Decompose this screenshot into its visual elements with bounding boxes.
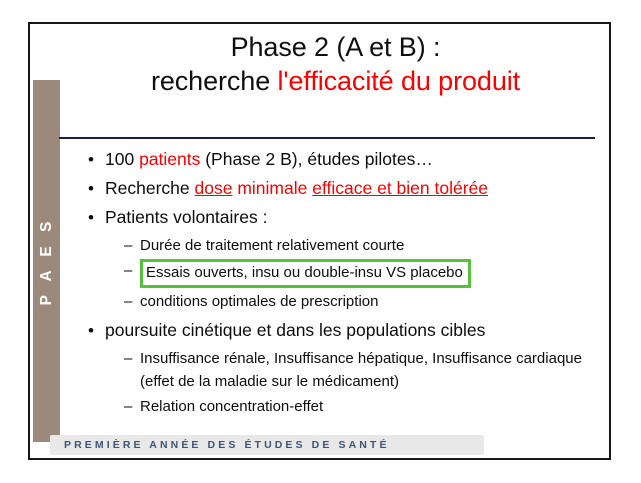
bullet-marker: • — [88, 317, 105, 344]
bullet-segment-red: patients — [139, 149, 200, 169]
slide: P A E S Phase 2 (A et B) : recherche l'e… — [28, 22, 611, 460]
dash-marker: – — [124, 234, 140, 257]
sub-bullet-text: Insuffisance rénale, Insuffisance hépati… — [140, 347, 610, 393]
footer-text: PREMIÈRE ANNÉE DES ÉTUDES DE SANTÉ — [64, 439, 390, 451]
bullet-segment-red: minimale — [237, 178, 307, 198]
bullet-marker: • — [88, 146, 105, 173]
bullet-marker: • — [88, 204, 105, 231]
bullet-segment-red-underline: dose — [195, 178, 233, 198]
sub-bullet-text: Durée de traitement relativement courte — [140, 234, 610, 257]
sub-bullet-item: – Insuffisance rénale, Insuffisance hépa… — [124, 347, 610, 393]
bullet-marker: • — [88, 175, 105, 202]
footer-band: PREMIÈRE ANNÉE DES ÉTUDES DE SANTÉ — [50, 435, 484, 455]
bullet-item: • poursuite cinétique et dans les popula… — [88, 317, 610, 344]
bullet-segment: 100 — [105, 149, 139, 169]
sub-bullet-text: conditions optimales de prescription — [140, 290, 610, 313]
sub-bullet-text: Relation concentration-effet — [140, 395, 610, 418]
bullet-item: • Recherche dose minimale efficace et bi… — [88, 175, 610, 202]
bullet-item: • 100 patients (Phase 2 B), études pilot… — [88, 146, 610, 173]
dash-marker: – — [124, 290, 140, 313]
bullet-segment: Recherche — [105, 178, 195, 198]
title-line-2: recherche l'efficacité du produit — [60, 64, 611, 98]
sub-bullet-item: – Relation concentration-effet — [124, 395, 610, 418]
slide-title: Phase 2 (A et B) : recherche l'efficacit… — [60, 30, 611, 98]
bullet-segment-red-underline: efficace et bien tolérée — [312, 178, 488, 198]
title-line-1: Phase 2 (A et B) : — [60, 30, 611, 64]
sidebar-label: P A E S — [38, 217, 56, 306]
slide-body: • 100 patients (Phase 2 B), études pilot… — [62, 146, 610, 418]
bullet-text: Recherche dose minimale efficace et bien… — [105, 175, 610, 202]
sub-bullet-item: – conditions optimales de prescription — [124, 290, 610, 313]
vertical-sidebar: P A E S — [33, 80, 60, 442]
sub-bullet-item-highlighted: – Essais ouverts, insu ou double-insu VS… — [124, 259, 610, 288]
sub-bullet-item: – Durée de traitement relativement court… — [124, 234, 610, 257]
bullet-text: poursuite cinétique et dans les populati… — [105, 317, 610, 344]
title-divider — [59, 137, 595, 139]
bullet-segment: (Phase 2 B), études pilotes… — [200, 149, 432, 169]
title-line-2-red: l'efficacité du produit — [278, 66, 521, 96]
title-line-2-black: recherche — [151, 66, 278, 96]
bullet-text: 100 patients (Phase 2 B), études pilotes… — [105, 146, 610, 173]
bullet-text: Patients volontaires : — [105, 204, 610, 231]
dash-marker: – — [124, 395, 140, 418]
bullet-item: • Patients volontaires : — [88, 204, 610, 231]
dash-marker: – — [124, 259, 140, 282]
dash-marker: – — [124, 347, 140, 370]
sub-bullet-text-boxed: Essais ouverts, insu ou double-insu VS p… — [140, 259, 471, 288]
